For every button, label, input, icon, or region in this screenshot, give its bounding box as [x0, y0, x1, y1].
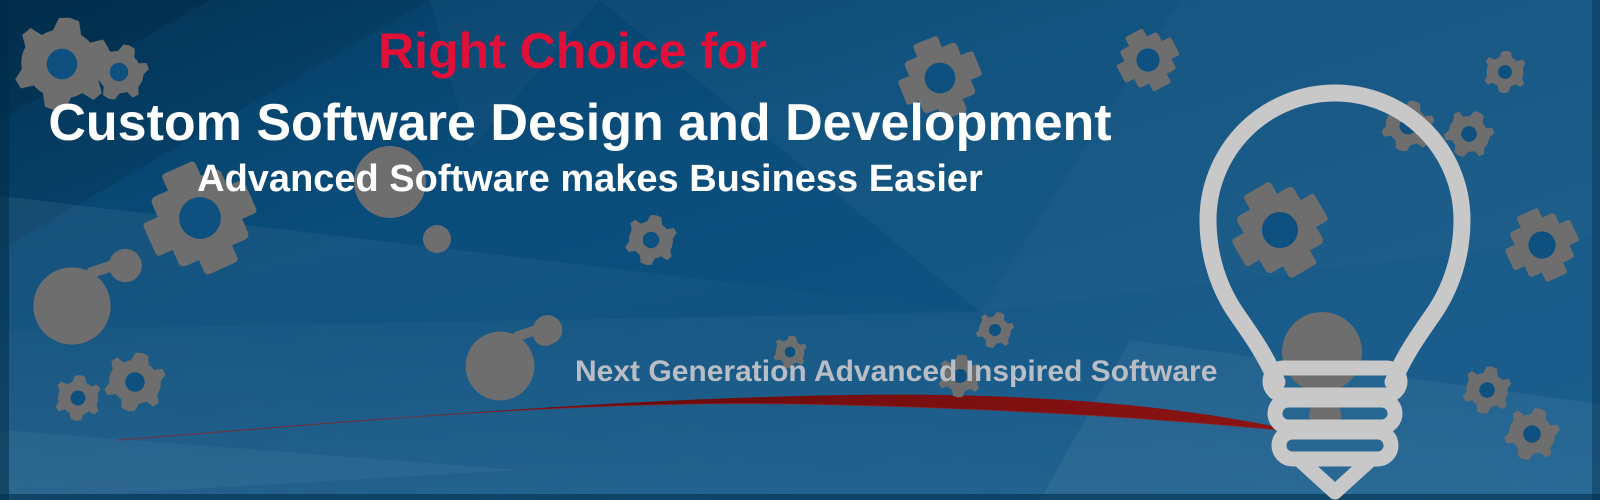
lightbulb-icon [0, 0, 1600, 500]
hero-banner: Right Choice for Custom Software Design … [0, 0, 1600, 500]
